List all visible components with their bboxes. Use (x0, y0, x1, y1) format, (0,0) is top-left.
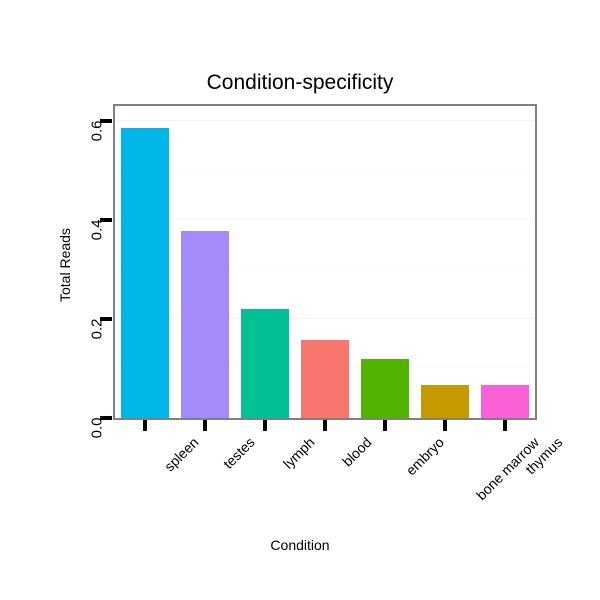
x-tick-mark (263, 420, 267, 431)
bar-embryo[interactable] (361, 359, 409, 418)
x-tick-label-bone-marrow: bone marrow (473, 434, 542, 503)
x-tick-mark (203, 420, 207, 431)
x-tick-mark (143, 420, 147, 431)
x-tick-mark (503, 420, 507, 431)
bar-thymus[interactable] (481, 385, 529, 418)
y-tick-label: 0.0 (89, 418, 106, 458)
bar-testes[interactable] (181, 231, 229, 418)
chart-figure: Condition-specificity 0.00.20.40.6spleen… (0, 0, 600, 600)
y-tick-label: 0.6 (89, 120, 106, 160)
y-axis-title: Total Reads (57, 228, 73, 302)
x-tick-mark (323, 420, 327, 431)
y-tick-mark (100, 218, 112, 222)
x-tick-label-testes: testes (220, 434, 258, 472)
y-tick-label: 0.2 (89, 318, 106, 358)
bar-spleen[interactable] (121, 128, 169, 418)
x-tick-label-embryo: embryo (403, 434, 447, 478)
x-tick-label-blood: blood (339, 434, 375, 470)
x-tick-label-thymus: thymus (522, 434, 565, 477)
chart-title: Condition-specificity (0, 70, 600, 96)
bar-series (115, 106, 535, 418)
bar-lymph[interactable] (241, 309, 289, 418)
y-tick-mark (100, 317, 112, 321)
x-tick-label-lymph: lymph (280, 434, 318, 472)
plot-panel (113, 104, 537, 420)
y-tick-mark (100, 119, 112, 123)
x-tick-label-spleen: spleen (161, 434, 201, 474)
x-tick-mark (383, 420, 387, 431)
y-tick-label: 0.4 (89, 219, 106, 259)
bar-blood[interactable] (301, 340, 349, 418)
plot-area (115, 106, 535, 418)
x-tick-mark (443, 420, 447, 431)
x-axis-title: Condition (0, 537, 600, 553)
y-tick-mark (100, 416, 112, 420)
bar-bone-marrow[interactable] (421, 385, 469, 418)
